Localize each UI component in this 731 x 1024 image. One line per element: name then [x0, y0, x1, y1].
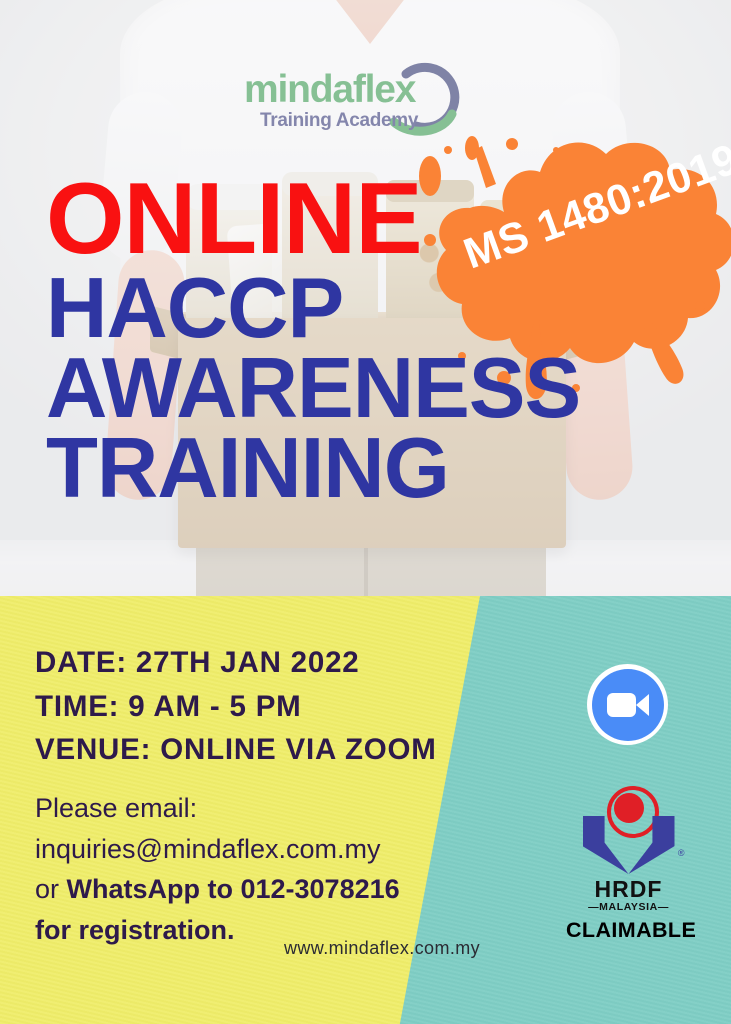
headline-awareness: AWARENESS [46, 349, 686, 429]
contact-block: Please email: inquiries@mindaflex.com.my… [35, 788, 400, 950]
event-time: TIME: 9 AM - 5 PM [35, 685, 437, 729]
contact-whatsapp-number[interactable]: WhatsApp to 012-3078216 [67, 874, 400, 904]
hrdf-country: —MALAYSIA— [566, 901, 691, 913]
poster: mindaflex Training Academy [0, 0, 731, 1024]
zoom-logo [587, 664, 668, 745]
contact-email-address[interactable]: inquiries@mindaflex.com.my [35, 829, 400, 870]
video-camera-icon [607, 693, 649, 717]
contact-email-label: Please email: [35, 788, 400, 829]
event-venue: VENUE: ONLINE VIA ZOOM [35, 728, 437, 772]
event-date: DATE: 27TH JAN 2022 [35, 641, 437, 685]
zoom-disc [592, 669, 664, 741]
hrdf-logo: ® HRDF —MALAYSIA— CLAIMABLE [566, 786, 691, 926]
website-url[interactable]: www.mindaflex.com.my [284, 938, 480, 959]
hrdf-mark-icon: ® [575, 786, 683, 874]
event-details: DATE: 27TH JAN 2022 TIME: 9 AM - 5 PM VE… [35, 641, 437, 772]
headline-haccp: HACCP [46, 269, 686, 349]
contact-whatsapp-line: or WhatsApp to 012-3078216 [35, 869, 400, 910]
hrdf-name: HRDF [566, 876, 691, 903]
contact-or-prefix: or [35, 874, 67, 904]
registered-mark: ® [678, 848, 685, 858]
headline-training: TRAINING [46, 429, 686, 509]
hrdf-claimable-label: CLAIMABLE [566, 918, 691, 943]
